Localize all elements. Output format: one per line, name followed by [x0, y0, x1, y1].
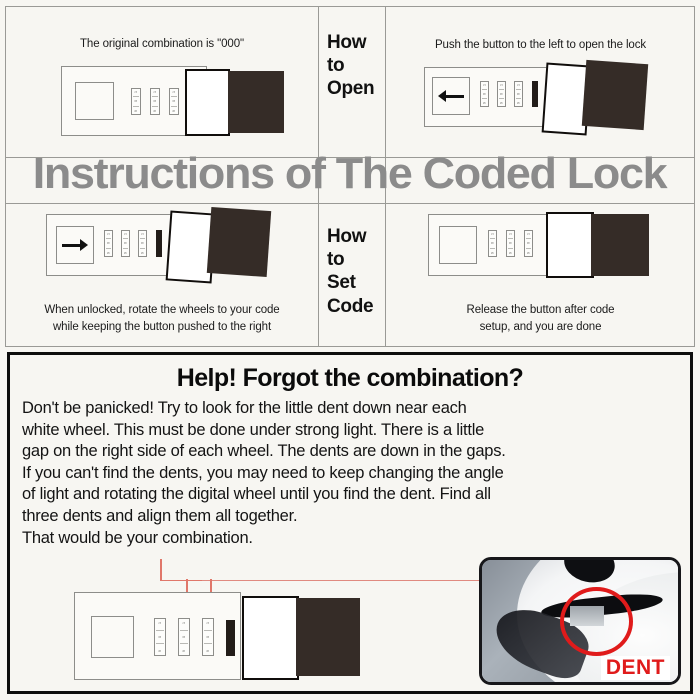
wheel-digit: 0	[172, 97, 176, 105]
lock-body	[591, 214, 649, 276]
lock-slide-button	[91, 616, 134, 658]
instruction-sheet: The original combination is "000" 1 0 9 …	[0, 0, 700, 700]
help-title: Help! Forgot the combination?	[10, 364, 690, 393]
help-line-5: of light and rotating the digital wheel …	[22, 484, 680, 506]
wheel-tick	[508, 248, 513, 249]
wheel-digit: 0	[500, 91, 504, 98]
wheel-digit: 1	[153, 88, 157, 96]
lock-diagram-dent-reference: 1 0 9 1 0 9 1 0 9	[74, 592, 334, 684]
wheel-digit: 1	[182, 618, 186, 628]
wheel-digit: 0	[527, 240, 531, 247]
wheel-tick	[204, 643, 212, 644]
caption-line-1: When unlocked, rotate the wheels to your…	[6, 302, 318, 318]
wheel-tick	[204, 630, 212, 631]
wheel-tick	[140, 248, 145, 249]
wheel-tick	[156, 643, 164, 644]
combination-wheel-3: 1 0 9	[524, 230, 533, 257]
lock-slide-button-right	[56, 226, 94, 264]
help-line-4: If you can't find the dents, you may nee…	[22, 463, 680, 485]
wheel-digit: 0	[153, 97, 157, 105]
arrow-head	[80, 239, 88, 251]
wheel-digit: 0	[509, 240, 513, 247]
how-to-set-line4: Code	[327, 295, 385, 318]
divider-horizontal-upper	[6, 157, 694, 158]
wheel-digit: 0	[517, 91, 521, 98]
wheel-digit: 1	[206, 618, 210, 628]
wheel-digit: 9	[483, 100, 487, 107]
top-instructions-section: The original combination is "000" 1 0 9 …	[5, 6, 695, 347]
wheel-digit: 1	[517, 82, 521, 89]
lock-latch-bar	[532, 81, 538, 107]
arrow-head	[438, 90, 446, 102]
wheel-digit: 9	[206, 646, 210, 656]
wheel-digit: 1	[491, 231, 495, 238]
combination-wheel-1: 1 0 9	[154, 618, 166, 656]
combination-wheel-2: 1 0 9	[178, 618, 190, 656]
wheel-digit: 0	[483, 91, 487, 98]
lock-body	[582, 60, 648, 130]
lock-shackle	[242, 596, 299, 680]
combination-wheel-2: 1 0 9	[506, 230, 515, 257]
help-line-2: white wheel. This must be done under str…	[22, 420, 680, 442]
panel-caption-push-left: Push the button to the left to open the …	[386, 37, 695, 53]
combination-wheel-3: 1 0 9	[169, 88, 179, 115]
wheel-digit: 0	[182, 632, 186, 642]
caption-line-2: setup, and you are done	[386, 319, 695, 335]
arrow-right-icon	[62, 238, 88, 252]
wheel-digit: 1	[509, 231, 513, 238]
combination-wheel-1: 1 0 9	[488, 230, 497, 257]
wheel-digit: 0	[124, 240, 128, 247]
help-line-6: three dents and align them all together.	[22, 506, 680, 528]
caption-line-1: Release the button after code	[386, 302, 695, 318]
lock-diagram-default: 1 0 9 1 0 9 1 0 9	[61, 66, 269, 136]
wheel-digit: 1	[141, 231, 145, 238]
how-to-set-line2: to	[327, 248, 385, 271]
dent-highlight-circle	[560, 587, 633, 656]
lock-slide-button	[75, 82, 114, 120]
callout-connector-riser-1	[160, 559, 162, 581]
dent-photo-inset: DENT	[479, 557, 681, 685]
panel-caption-release-button: Release the button after code setup, and…	[386, 302, 695, 335]
wheel-digit: 9	[158, 646, 162, 656]
wheel-digit: 0	[141, 240, 145, 247]
callout-connector-top-1	[160, 580, 202, 582]
wheel-digit: 1	[527, 231, 531, 238]
wheel-digit: 0	[134, 97, 138, 105]
wheel-digit: 0	[491, 240, 495, 247]
wheel-tick	[123, 248, 128, 249]
lock-shackle	[546, 212, 594, 278]
wheel-digit: 0	[206, 632, 210, 642]
panel-original-combination: The original combination is "000" 1 0 9 …	[6, 7, 318, 157]
lock-latch-bar	[226, 620, 235, 656]
wheel-digit: 9	[172, 107, 176, 115]
help-line-1: Don't be panicked! Try to look for the l…	[22, 398, 680, 420]
wheel-digit: 9	[491, 249, 495, 256]
wheel-digit: 9	[107, 249, 111, 256]
wheel-digit: 1	[107, 231, 111, 238]
wheel-digit: 1	[134, 88, 138, 96]
label-how-to-open: How to Open	[319, 31, 385, 101]
combination-wheel-3: 1 0 9	[138, 230, 147, 257]
lock-body	[228, 71, 284, 133]
wheel-digit: 9	[124, 249, 128, 256]
dent-callout-label: DENT	[601, 656, 670, 680]
label-how-to-set-code: How to Set Code	[319, 225, 385, 318]
wheel-tick	[180, 630, 188, 631]
wheel-tick	[106, 248, 111, 249]
combination-wheel-1: 1 0 9	[480, 81, 489, 107]
wheel-tick	[180, 643, 188, 644]
wheel-digit: 9	[141, 249, 145, 256]
panel-release-button: 1 0 9 1 0 9 1 0 9	[386, 204, 695, 347]
how-to-set-line3: Set	[327, 271, 385, 294]
how-to-open-line2: to	[327, 54, 385, 77]
combination-wheel-3: 1 0 9	[514, 81, 523, 107]
wheel-digit: 9	[517, 100, 521, 107]
caption-line-2: while keeping the button pushed to the r…	[6, 319, 318, 335]
arrow-left-icon	[438, 89, 464, 103]
wheel-digit: 9	[527, 249, 531, 256]
wheel-tick	[156, 630, 164, 631]
help-body: Don't be panicked! Try to look for the l…	[22, 398, 680, 549]
panel-caption-rotate-wheels: When unlocked, rotate the wheels to your…	[6, 302, 318, 335]
wheel-digit: 1	[124, 231, 128, 238]
lock-diagram-open: 1 0 9 1 0 9 1 0 9	[424, 67, 654, 139]
panel-caption-original-combination: The original combination is "000"	[6, 36, 318, 52]
combination-wheel-2: 1 0 9	[497, 81, 506, 107]
wheel-digit: 0	[107, 240, 111, 247]
combination-wheel-3: 1 0 9	[202, 618, 214, 656]
how-to-open-line1: How	[327, 31, 385, 54]
lock-slide-button	[439, 226, 477, 264]
how-to-set-line1: How	[327, 225, 385, 248]
wheel-digit: 9	[153, 107, 157, 115]
wheel-digit: 1	[483, 82, 487, 89]
wheel-tick	[526, 248, 531, 249]
wheel-digit: 9	[182, 646, 186, 656]
arrow-shaft	[443, 95, 464, 98]
lock-slide-button-left	[432, 77, 470, 115]
help-line-7: That would be your combination.	[22, 528, 680, 550]
wheel-tick	[490, 248, 495, 249]
combination-wheel-2: 1 0 9	[150, 88, 160, 115]
lock-shackle	[185, 69, 230, 136]
lock-body	[207, 207, 271, 277]
wheel-digit: 1	[500, 82, 504, 89]
lock-body	[296, 598, 360, 676]
panel-push-button-left: Push the button to the left to open the …	[386, 7, 695, 157]
lock-diagram-setcode: 1 0 9 1 0 9 1 0 9	[46, 214, 276, 286]
wheel-digit: 0	[158, 632, 162, 642]
help-line-3: gap on the right side of each wheel. The…	[22, 441, 680, 463]
how-to-open-line3: Open	[327, 77, 385, 100]
wheel-digit: 1	[158, 618, 162, 628]
lock-diagram-done: 1 0 9 1 0 9 1 0 9	[428, 214, 658, 286]
wheel-digit: 9	[500, 100, 504, 107]
panel-rotate-wheels: 1 0 9 1 0 9 1 0 9	[6, 204, 318, 347]
combination-wheel-1: 1 0 9	[104, 230, 113, 257]
combination-wheel-2: 1 0 9	[121, 230, 130, 257]
wheel-digit: 1	[172, 88, 176, 96]
combination-wheel-1: 1 0 9	[131, 88, 141, 115]
wheel-digit: 9	[509, 249, 513, 256]
help-section: Help! Forgot the combination? Don't be p…	[7, 352, 693, 694]
wheel-digit: 9	[134, 107, 138, 115]
lock-latch-bar	[156, 230, 162, 257]
